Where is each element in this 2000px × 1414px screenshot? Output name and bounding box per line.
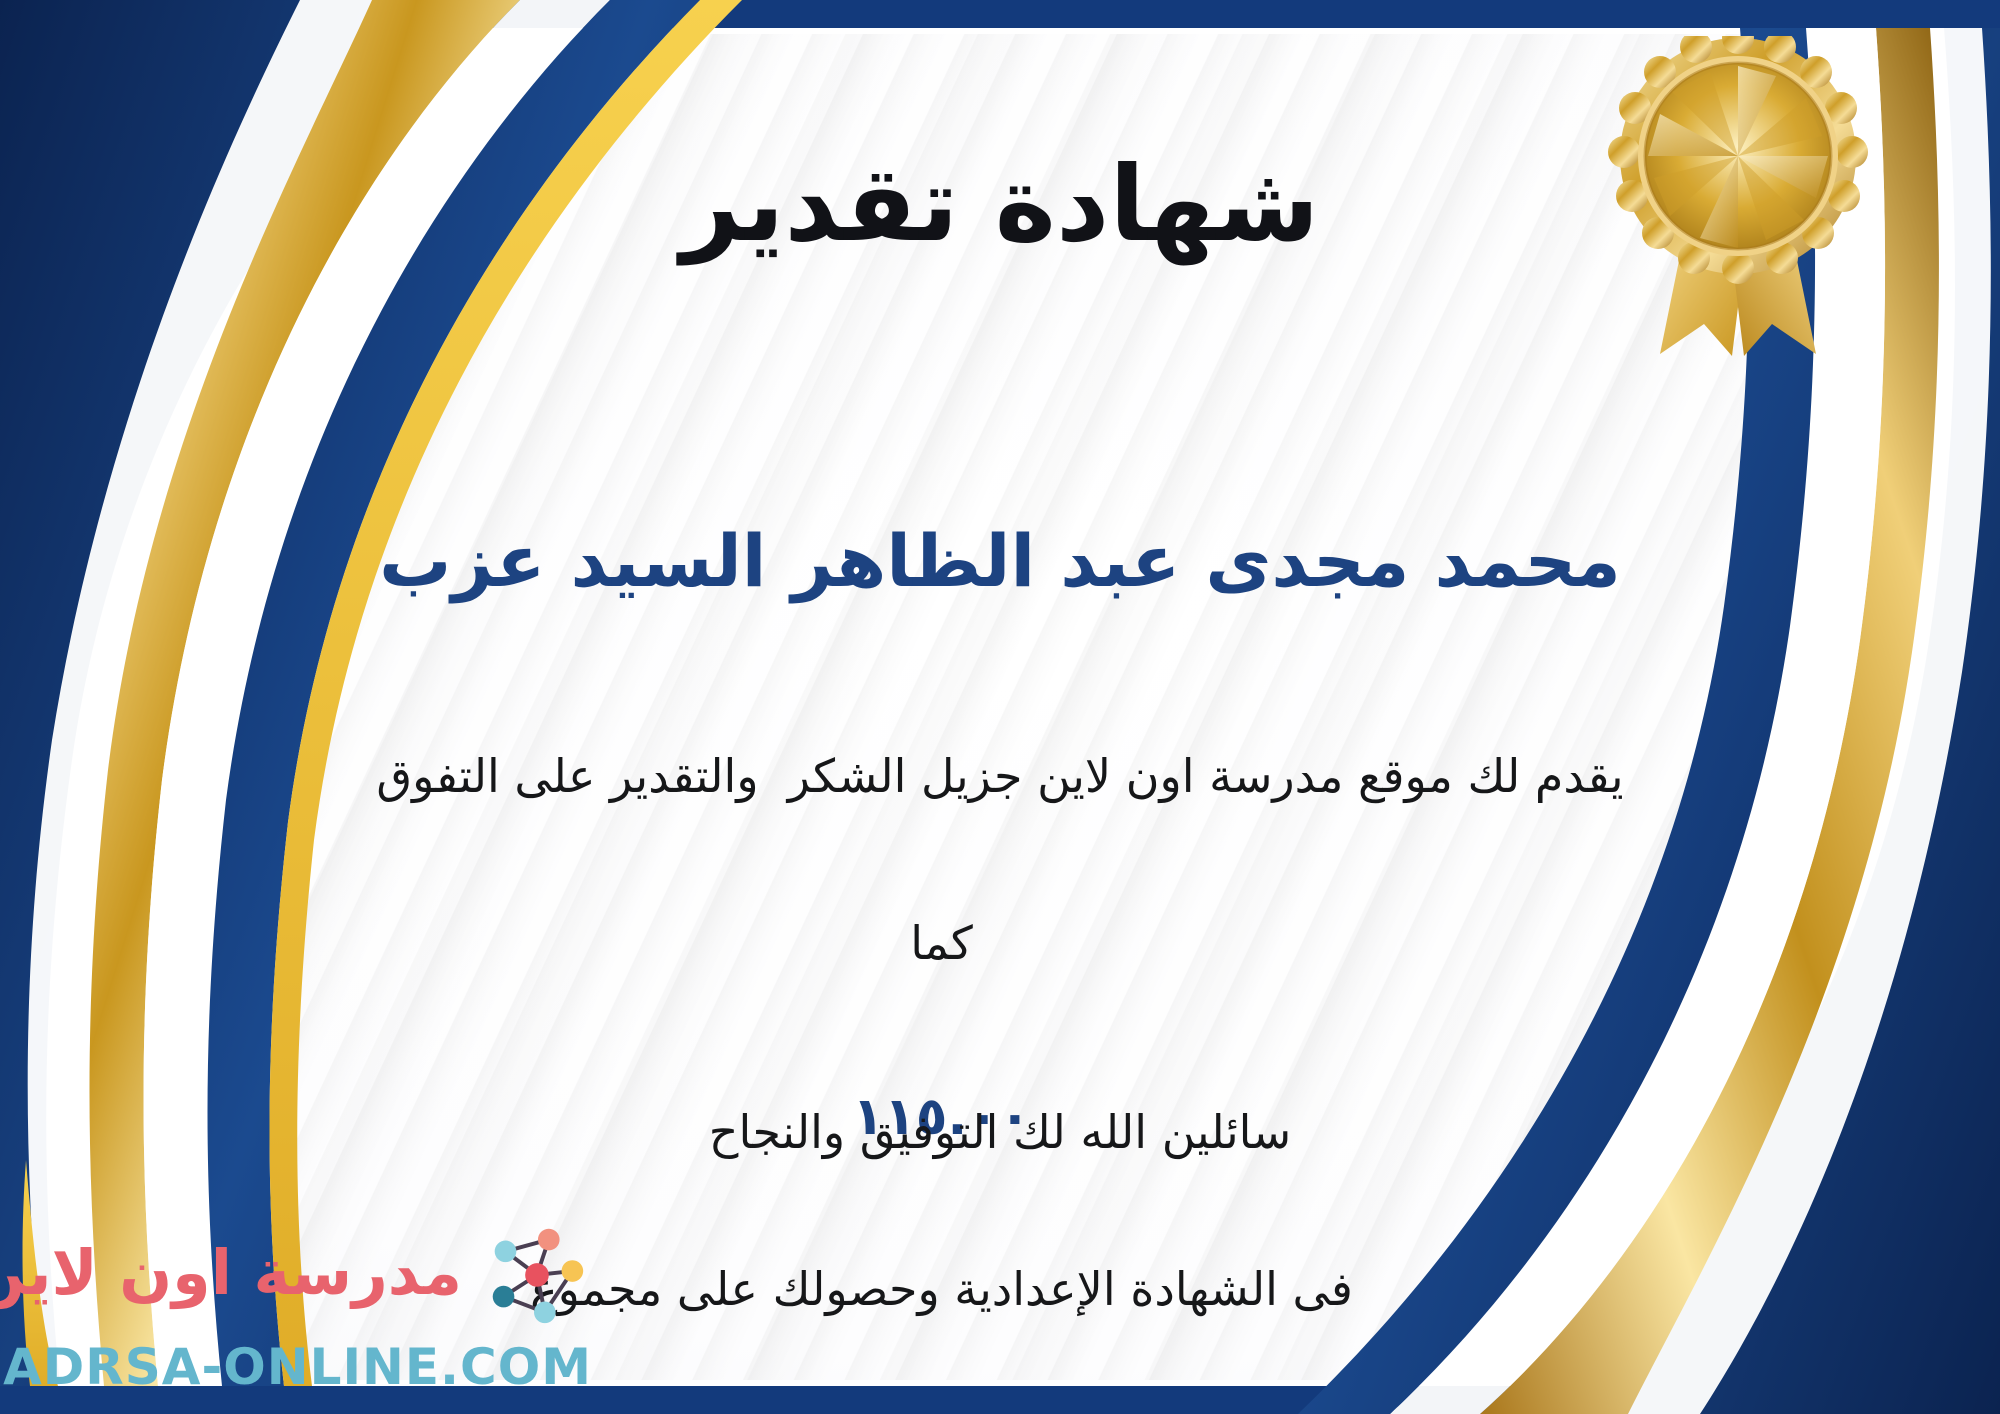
closing-line: سائلين الله لك التوفيق والنجاح xyxy=(0,1105,2000,1159)
body-line-2-suffix: كما xyxy=(910,916,973,970)
logo-url: MADRSA-ONLINE.COM xyxy=(0,1342,592,1392)
certificate-content: شهادة تقدير محمد مجدى عبد الظاهر السيد ع… xyxy=(0,0,2000,1414)
network-nodes-logo-icon xyxy=(476,1214,594,1332)
logo-arabic-name: مدرسة اون لاين xyxy=(0,1242,462,1304)
page-title: شهادة تقدير xyxy=(0,150,2000,259)
logo-url-row: MADRSA-ONLINE.COM xyxy=(34,1342,594,1392)
certificate-page: شهادة تقدير محمد مجدى عبد الظاهر السيد ع… xyxy=(0,0,2000,1414)
logo-arabic-row: مدرسة اون لاين xyxy=(34,1214,594,1332)
body-line-2-prefix: فى الشهادة الإعدادية وحصولك على مجموع xyxy=(530,1262,1353,1316)
student-name: محمد مجدى عبد الظاهر السيد عزب xyxy=(0,520,2000,603)
site-logo[interactable]: مدرسة اون لاين MADRSA-ONLINE.COM xyxy=(34,1212,594,1392)
body-line-1: يقدم لك موقع مدرسة اون لاين جزيل الشكر و… xyxy=(60,735,1940,819)
